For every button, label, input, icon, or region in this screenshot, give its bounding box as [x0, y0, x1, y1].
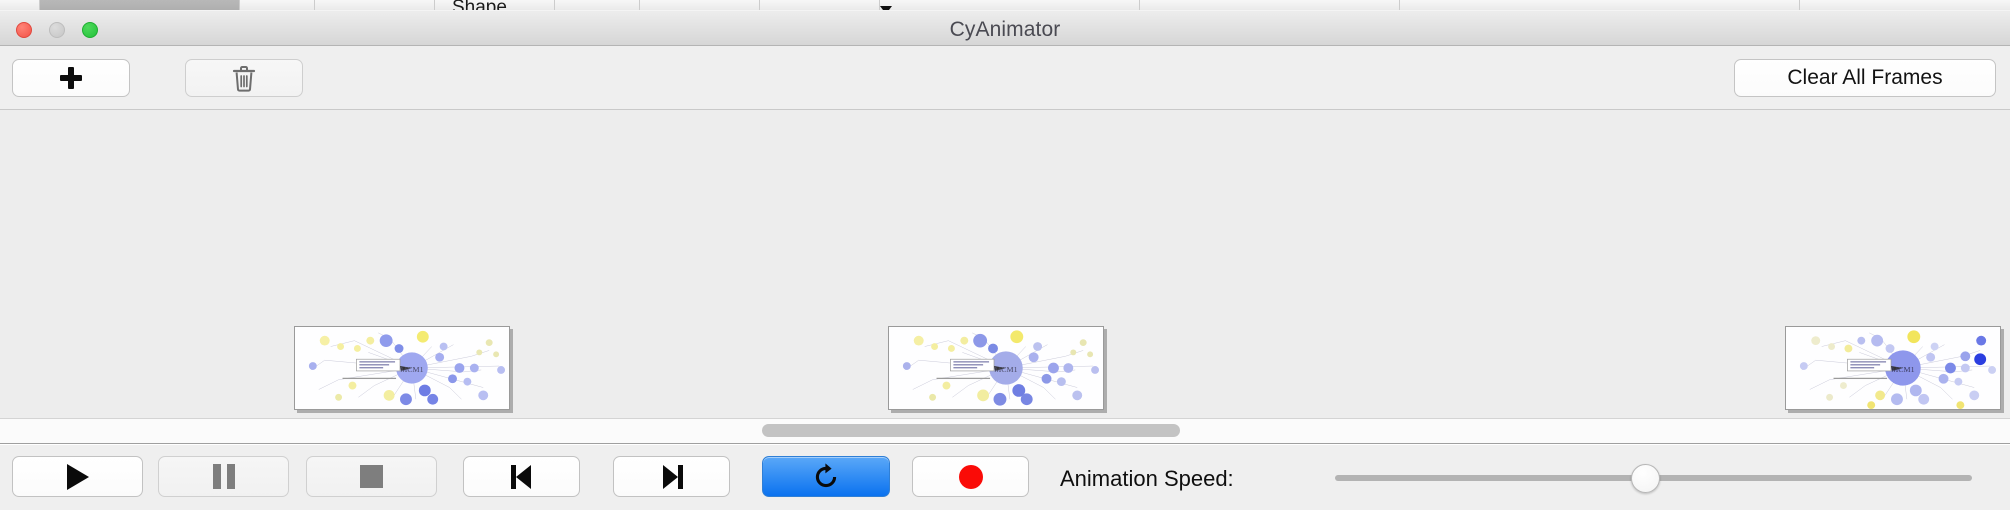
record-icon [959, 465, 983, 489]
pause-icon [213, 464, 235, 489]
frame-thumbnail[interactable]: MCM1 [888, 326, 1104, 410]
loop-icon [811, 462, 841, 492]
cyanimator-window: Shape CyAnimator Clear All Frames [0, 0, 2010, 510]
timeline-scrollbar[interactable] [0, 418, 2010, 444]
animation-speed-label: Animation Speed: [1060, 466, 1234, 492]
delete-frame-button[interactable] [185, 59, 303, 97]
add-frame-button[interactable] [12, 59, 130, 97]
plus-icon [60, 67, 82, 89]
skip-to-start-button[interactable] [463, 456, 580, 497]
stop-button[interactable] [306, 456, 437, 497]
clear-all-frames-button[interactable]: Clear All Frames [1734, 59, 1996, 97]
title-bar: CyAnimator [0, 10, 2010, 46]
frame-thumbnail[interactable]: MCM1 [1785, 326, 2001, 410]
play-icon [67, 464, 89, 490]
loop-button[interactable] [762, 456, 890, 497]
trash-icon [232, 65, 256, 92]
record-button[interactable] [912, 456, 1029, 497]
skip-to-start-icon [509, 465, 535, 489]
animation-speed-slider-thumb[interactable] [1631, 464, 1660, 493]
window-title: CyAnimator [0, 18, 2010, 42]
playback-control-bar: Animation Speed: [0, 445, 2010, 510]
stop-icon [360, 465, 383, 488]
play-button[interactable] [12, 456, 143, 497]
network-graph-thumbnail: MCM1 [1786, 327, 2000, 409]
network-graph-thumbnail: MCM1 [889, 327, 1103, 409]
frame-thumbnail[interactable]: MCM1 [294, 326, 510, 410]
skip-to-end-button[interactable] [613, 456, 730, 497]
timeline-panel[interactable]: MCM1 [0, 110, 2010, 418]
svg-text:MCM1: MCM1 [1891, 365, 1914, 374]
scrollbar-thumb[interactable] [762, 424, 1180, 437]
svg-text:MCM1: MCM1 [400, 365, 423, 374]
network-graph-thumbnail: MCM1 [295, 327, 509, 409]
clear-all-frames-label: Clear All Frames [1787, 66, 1942, 90]
svg-text:MCM1: MCM1 [994, 365, 1017, 374]
toolbar: Clear All Frames [0, 46, 2010, 110]
skip-to-end-icon [659, 465, 685, 489]
pause-button[interactable] [158, 456, 289, 497]
